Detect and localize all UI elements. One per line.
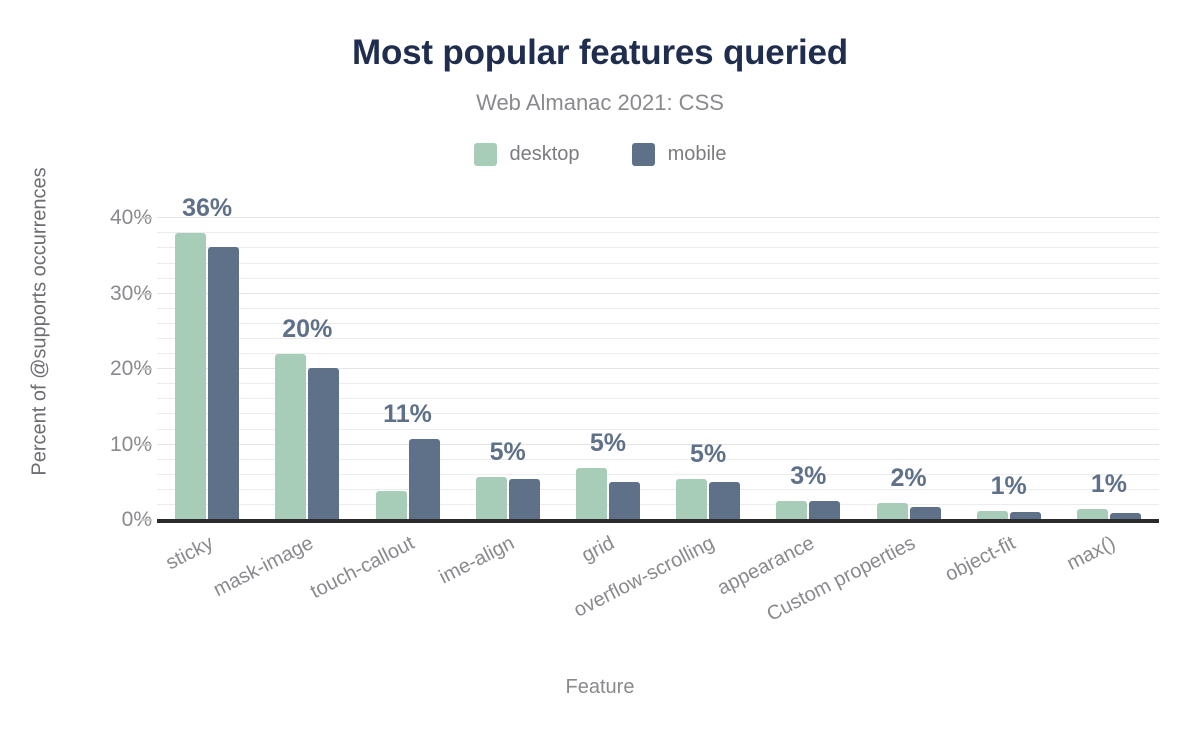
x-axis-tick-label: sticky bbox=[163, 532, 218, 575]
bar-group: 5% bbox=[458, 207, 558, 520]
bar-groups: 36%20%11%5%5%5%3%2%1%1% bbox=[157, 207, 1159, 520]
bar-mobile[interactable] bbox=[208, 247, 239, 520]
legend-label-mobile: mobile bbox=[668, 143, 727, 166]
bar-value-label: 2% bbox=[858, 464, 958, 493]
chart-container: Most popular features queried Web Almana… bbox=[0, 0, 1200, 742]
y-axis-tick-mark bbox=[141, 519, 152, 521]
bar-desktop[interactable] bbox=[175, 233, 206, 520]
bar-group: 20% bbox=[257, 207, 357, 520]
bar-value-label: 1% bbox=[1059, 470, 1159, 499]
chart-title: Most popular features queried bbox=[0, 33, 1200, 73]
x-axis-title: Feature bbox=[0, 676, 1200, 699]
bar-desktop[interactable] bbox=[776, 501, 807, 520]
y-axis-tick-label: 20% bbox=[32, 357, 152, 381]
bar-value-label: 5% bbox=[458, 438, 558, 467]
legend-item-mobile[interactable]: mobile bbox=[632, 143, 727, 166]
bar-group: 1% bbox=[959, 207, 1059, 520]
bar-group: 3% bbox=[758, 207, 858, 520]
bar-group: 1% bbox=[1059, 207, 1159, 520]
y-axis-tick-mark bbox=[141, 368, 152, 370]
bar-mobile[interactable] bbox=[609, 482, 640, 520]
chart-subtitle: Web Almanac 2021: CSS bbox=[0, 90, 1200, 116]
x-axis-baseline bbox=[157, 519, 1159, 523]
plot-area: 36%20%11%5%5%5%3%2%1%1% bbox=[157, 207, 1159, 520]
bar-value-label: 5% bbox=[658, 440, 758, 469]
y-axis-tick-label: 0% bbox=[32, 508, 152, 532]
bar-mobile[interactable] bbox=[308, 368, 339, 520]
y-axis-tick-mark bbox=[141, 217, 152, 219]
y-axis-tick-mark bbox=[141, 293, 152, 295]
bar-desktop[interactable] bbox=[275, 354, 306, 520]
legend-item-desktop[interactable]: desktop bbox=[474, 143, 580, 166]
bar-value-label: 5% bbox=[558, 429, 658, 458]
y-axis-tick-mark bbox=[141, 444, 152, 446]
x-axis-tick-label: ime-align bbox=[435, 532, 518, 589]
bar-mobile[interactable] bbox=[509, 479, 540, 520]
bar-value-label: 11% bbox=[357, 400, 457, 429]
legend-swatch-desktop bbox=[474, 143, 497, 166]
bar-value-label: 3% bbox=[758, 462, 858, 491]
bar-group: 36% bbox=[157, 207, 257, 520]
x-axis-tick-label: touch-callout bbox=[306, 532, 417, 604]
bar-desktop[interactable] bbox=[376, 491, 407, 520]
x-axis-tick-label: mask-image bbox=[210, 532, 317, 602]
x-axis-tick-label: grid bbox=[578, 532, 618, 568]
chart-legend: desktop mobile bbox=[0, 143, 1200, 166]
bar-value-label: 36% bbox=[157, 194, 257, 223]
bar-mobile[interactable] bbox=[409, 439, 440, 520]
bar-mobile[interactable] bbox=[709, 482, 740, 520]
x-axis-tick-label: object-fit bbox=[941, 532, 1019, 587]
bar-group: 11% bbox=[357, 207, 457, 520]
bar-group: 2% bbox=[858, 207, 958, 520]
y-axis-tick-label: 30% bbox=[32, 282, 152, 306]
legend-swatch-mobile bbox=[632, 143, 655, 166]
bar-value-label: 1% bbox=[959, 472, 1059, 501]
bar-value-label: 20% bbox=[257, 315, 357, 344]
bar-desktop[interactable] bbox=[576, 468, 607, 520]
bar-group: 5% bbox=[558, 207, 658, 520]
y-axis-tick-label: 40% bbox=[32, 206, 152, 230]
x-axis-tick-label: max() bbox=[1063, 532, 1119, 576]
legend-label-desktop: desktop bbox=[510, 143, 580, 166]
bar-desktop[interactable] bbox=[877, 503, 908, 520]
y-axis-tick-label: 10% bbox=[32, 433, 152, 457]
bar-mobile[interactable] bbox=[809, 501, 840, 520]
bar-desktop[interactable] bbox=[476, 477, 507, 520]
bar-desktop[interactable] bbox=[676, 479, 707, 520]
bar-group: 5% bbox=[658, 207, 758, 520]
y-axis-title: Percent of @supports occurrences bbox=[29, 92, 52, 552]
